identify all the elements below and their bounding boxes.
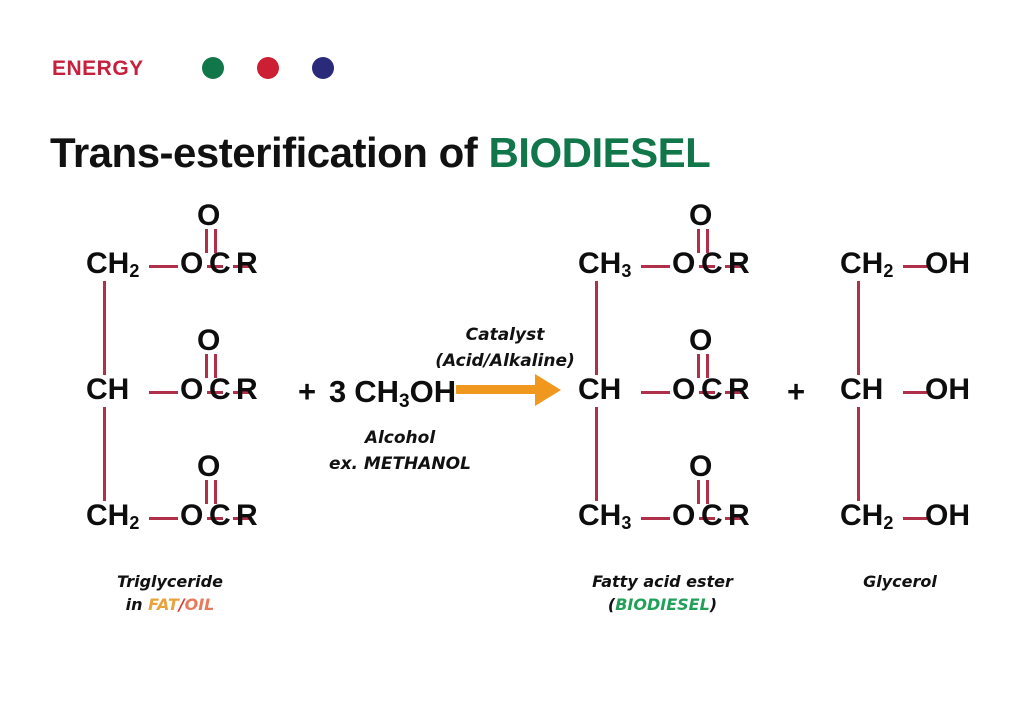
- backbone-bond-reactant-1-2: [103, 281, 106, 375]
- triglyceride-caption-line1: Triglyceride: [90, 570, 250, 593]
- product-plus-sign: +: [787, 376, 805, 407]
- green-dot-icon: [202, 57, 224, 79]
- reactant-carbon-3: C: [209, 501, 231, 531]
- double-bond-right-ester-3: [706, 480, 709, 504]
- alcohol-note: Alcohol ex. METHANOL: [300, 426, 500, 477]
- bond-ester-2-ch-o: [641, 391, 670, 394]
- double-bond-left-ester-3: [697, 480, 700, 504]
- triglyceride-caption: Triglyceride in FAT/OIL: [90, 570, 250, 616]
- reactant-carbonyl-o-1: O: [197, 201, 220, 231]
- ester-caption-line1: Fatty acid ester: [580, 570, 745, 593]
- ester-carbon-3: C: [701, 501, 723, 531]
- reactant-ester-o-2: O: [180, 375, 203, 405]
- reactant-carbonyl-o-2: O: [197, 326, 220, 356]
- double-bond-right-ester-2: [706, 354, 709, 378]
- reactant-backbone-1: CH2: [86, 249, 139, 280]
- reactant-plus-sign: +: [298, 376, 316, 407]
- ester-backbone-3: CH3: [578, 501, 631, 532]
- double-bond-right-reactant-2: [214, 354, 217, 378]
- reactant-r-group-1: R: [236, 249, 258, 279]
- triglyceride-caption-line2: in FAT/OIL: [90, 593, 250, 616]
- red-dot-icon: [257, 57, 279, 79]
- fat-label: FAT: [148, 595, 179, 614]
- ester-o-3: O: [672, 501, 695, 531]
- catalyst-line1: Catalyst: [410, 323, 600, 349]
- catalyst-note: Catalyst (Acid/Alkaline): [410, 323, 600, 374]
- double-bond-left-reactant-1: [205, 229, 208, 253]
- ester-carbon-2: C: [701, 375, 723, 405]
- glycerol-oh-3: OH: [925, 501, 970, 531]
- reactant-ester-o-3: O: [180, 501, 203, 531]
- reactant-backbone-3: CH2: [86, 501, 139, 532]
- ester-backbone-1: CH3: [578, 249, 631, 280]
- catalyst-line2: (Acid/Alkaline): [410, 349, 600, 375]
- reactant-ester-o-1: O: [180, 249, 203, 279]
- double-bond-left-reactant-2: [205, 354, 208, 378]
- reaction-arrow-shaft: [456, 385, 538, 394]
- navy-dot-icon: [312, 57, 334, 79]
- glycerol-backbone-3: CH2: [840, 501, 893, 532]
- ester-caption-line2: (BIODIESEL): [580, 593, 745, 616]
- reactant-carbon-1: C: [209, 249, 231, 279]
- reactant-r-group-3: R: [236, 501, 258, 531]
- bond-glycerol-1-ch-oh: [903, 265, 927, 268]
- reactant-carbonyl-o-3: O: [197, 452, 220, 482]
- ester-o-2: O: [672, 375, 695, 405]
- ester-carbonyl-o-3: O: [689, 452, 712, 482]
- double-bond-left-ester-1: [697, 229, 700, 253]
- alcohol-line1: Alcohol: [300, 426, 500, 452]
- bond-reactant-2-ch-o: [149, 391, 178, 394]
- backbone-bond-glycerol-1-2: [857, 281, 860, 375]
- biodiesel-label: BIODIESEL: [615, 595, 710, 614]
- brand-row: ENERGY: [52, 52, 334, 84]
- bond-glycerol-3-ch-oh: [903, 517, 927, 520]
- glycerol-caption: Glycerol: [845, 570, 955, 593]
- reaction-arrow-head: [535, 374, 561, 406]
- reactant-carbon-2: C: [209, 375, 231, 405]
- glycerol-oh-2: OH: [925, 375, 970, 405]
- glycerol-oh-1: OH: [925, 249, 970, 279]
- bond-glycerol-2-ch-oh: [903, 391, 927, 394]
- reactant-r-group-2: R: [236, 375, 258, 405]
- ester-o-1: O: [672, 249, 695, 279]
- double-bond-right-reactant-3: [214, 480, 217, 504]
- bond-ester-1-ch-o: [641, 265, 670, 268]
- methanol-formula: 3CH3OH: [329, 376, 456, 411]
- ester-vertical-line-2: [595, 407, 598, 501]
- double-bond-right-ester-1: [706, 229, 709, 253]
- ester-carbonyl-o-1: O: [689, 201, 712, 231]
- ester-backbone-2: CH: [578, 375, 621, 406]
- bond-ester-3-ch-o: [641, 517, 670, 520]
- page-title-accent: BIODIESEL: [488, 129, 710, 176]
- ester-carbon-1: C: [701, 249, 723, 279]
- ester-r-group-1: R: [728, 249, 750, 279]
- ester-r-group-2: R: [728, 375, 750, 405]
- alcohol-line2: ex. METHANOL: [300, 452, 500, 478]
- double-bond-left-ester-2: [697, 354, 700, 378]
- glycerol-backbone-1: CH2: [840, 249, 893, 280]
- glycerol-backbone-2: CH: [840, 375, 883, 406]
- reactant-backbone-2: CH: [86, 375, 129, 406]
- ester-r-group-3: R: [728, 501, 750, 531]
- bond-reactant-1-ch-o: [149, 265, 178, 268]
- oil-label: OIL: [185, 595, 215, 614]
- ester-vertical-line-1: [595, 281, 598, 375]
- backbone-bond-glycerol-2-3: [857, 407, 860, 501]
- page-title: Trans-esterification of BIODIESEL: [50, 132, 710, 174]
- brand-label: ENERGY: [52, 58, 144, 79]
- double-bond-left-reactant-3: [205, 480, 208, 504]
- ester-caption: Fatty acid ester (BIODIESEL): [580, 570, 745, 616]
- bond-reactant-3-ch-o: [149, 517, 178, 520]
- backbone-bond-reactant-2-3: [103, 407, 106, 501]
- ester-carbonyl-o-2: O: [689, 326, 712, 356]
- double-bond-right-reactant-1: [214, 229, 217, 253]
